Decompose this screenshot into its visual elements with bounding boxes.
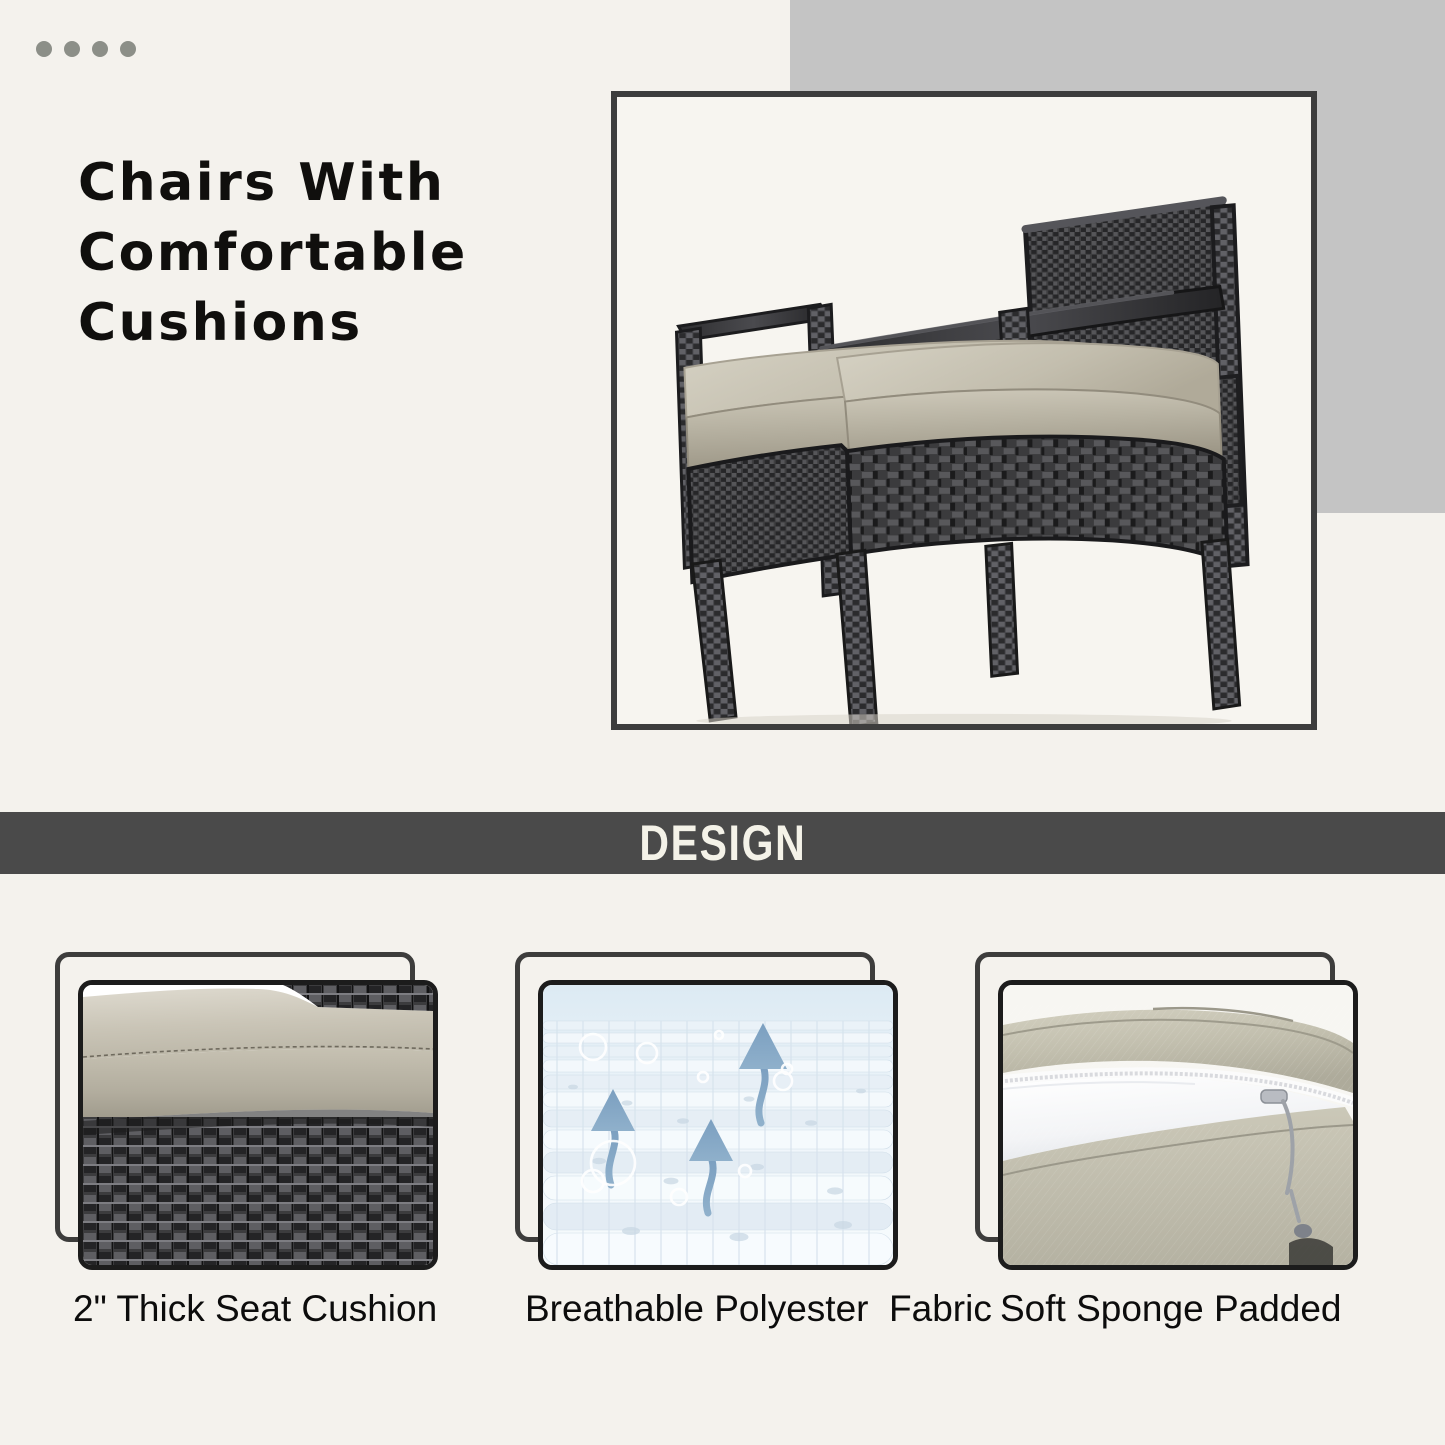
headline-line-2: Comfortable xyxy=(78,218,598,288)
dot-icon xyxy=(64,41,80,57)
feature-card: Soft Sponge Padded xyxy=(975,952,1405,1372)
hero-image xyxy=(617,97,1311,724)
card-photo-frame xyxy=(538,980,898,1270)
feature-card: 2" Thick Seat Cushion xyxy=(55,952,485,1372)
dot-icon xyxy=(36,41,52,57)
breathable-polyester-fabric-photo xyxy=(543,985,893,1265)
card-photo-frame xyxy=(78,980,438,1270)
headline-line-3: Cushions xyxy=(78,288,598,358)
feature-cards: 2" Thick Seat Cushion xyxy=(0,952,1445,1372)
dot-icon xyxy=(120,41,136,57)
soft-sponge-padded-photo xyxy=(1003,985,1353,1265)
banner-title: DESIGN xyxy=(639,814,806,872)
thick-seat-cushion-photo xyxy=(83,985,433,1265)
product-feature-page: Chairs With Comfortable Cushions xyxy=(0,0,1445,1445)
card-caption: Breathable Polyester Fabric xyxy=(525,1288,955,1330)
dot-icon xyxy=(92,41,108,57)
section-banner-design: DESIGN xyxy=(0,812,1445,874)
card-photo-frame xyxy=(998,980,1358,1270)
card-caption: 2" Thick Seat Cushion xyxy=(73,1288,503,1330)
page-title: Chairs With Comfortable Cushions xyxy=(78,148,598,358)
card-caption: Soft Sponge Padded xyxy=(1000,1288,1430,1330)
decorative-dots xyxy=(36,41,136,57)
feature-card: Breathable Polyester Fabric xyxy=(515,952,945,1372)
hero-image-frame xyxy=(611,91,1317,730)
rattan-armchair-illustration xyxy=(617,97,1311,724)
headline-line-1: Chairs With xyxy=(78,148,598,218)
